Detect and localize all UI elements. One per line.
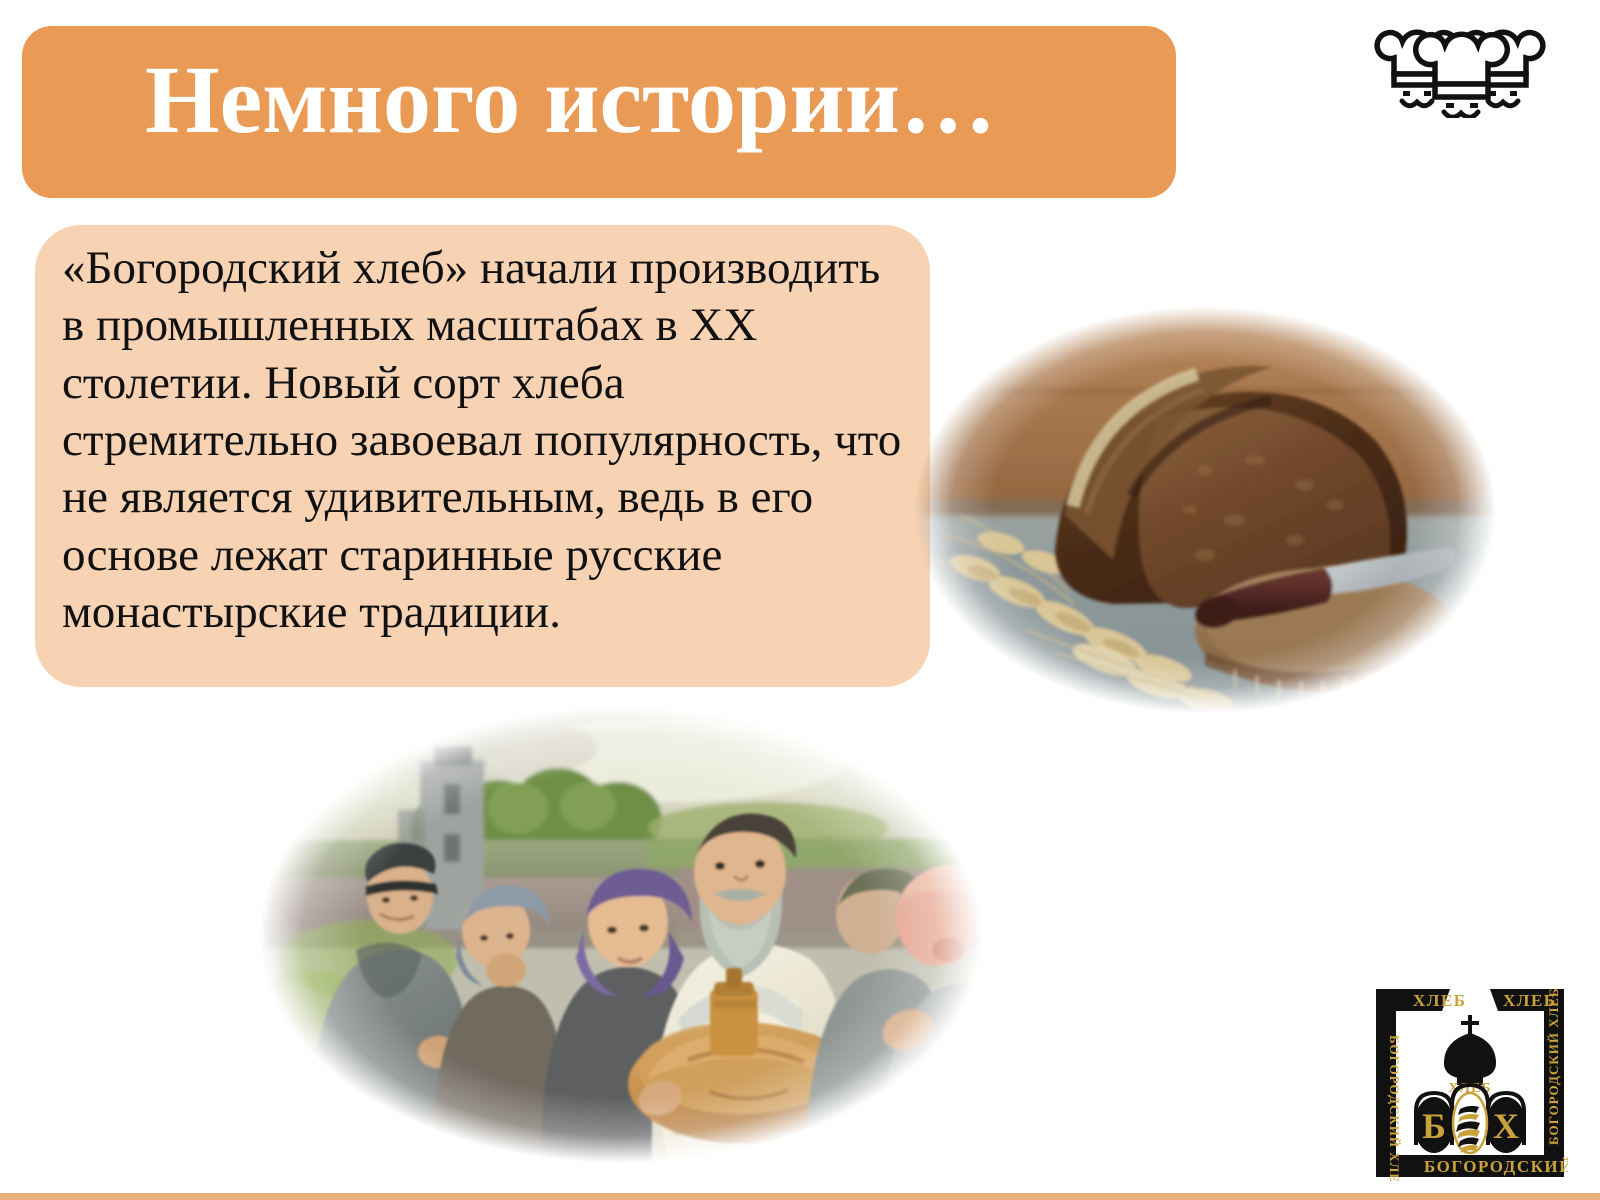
bogorodsky-hleb-logo: ХЛЕБ ХЛЕБ БОГОРОДСКИЙ БОГОРОДСКИЙ ХЛЕБ Б… bbox=[1372, 985, 1568, 1181]
bottom-rule bbox=[0, 1193, 1600, 1200]
logo-monogram-right: Х bbox=[1493, 1106, 1519, 1146]
peasants-bread-and-salt-painting bbox=[248, 700, 993, 1170]
logo-right-side-word: БОГОРОДСКИЙ ХЛЕБ bbox=[1546, 987, 1561, 1145]
logo-left-side-word: БОГОРОДСКИЙ ХЛЕБ bbox=[1387, 1035, 1402, 1181]
bread-photo-oval bbox=[905, 300, 1505, 720]
three-chef-hats-icon bbox=[1372, 22, 1548, 118]
slide-root: Немного истории… bbox=[0, 0, 1600, 1200]
logo-monogram-left: Б bbox=[1422, 1106, 1446, 1146]
logo-top-left-word: ХЛЕБ bbox=[1413, 991, 1467, 1010]
painting-oval bbox=[248, 700, 993, 1170]
body-text: «Богородский хлеб» начали производить в … bbox=[62, 240, 902, 641]
logo-bottom-word: БОГОРОДСКИЙ bbox=[1424, 1157, 1568, 1176]
page-title: Немного истории… bbox=[145, 50, 1145, 151]
rye-bread-photo bbox=[905, 300, 1505, 720]
